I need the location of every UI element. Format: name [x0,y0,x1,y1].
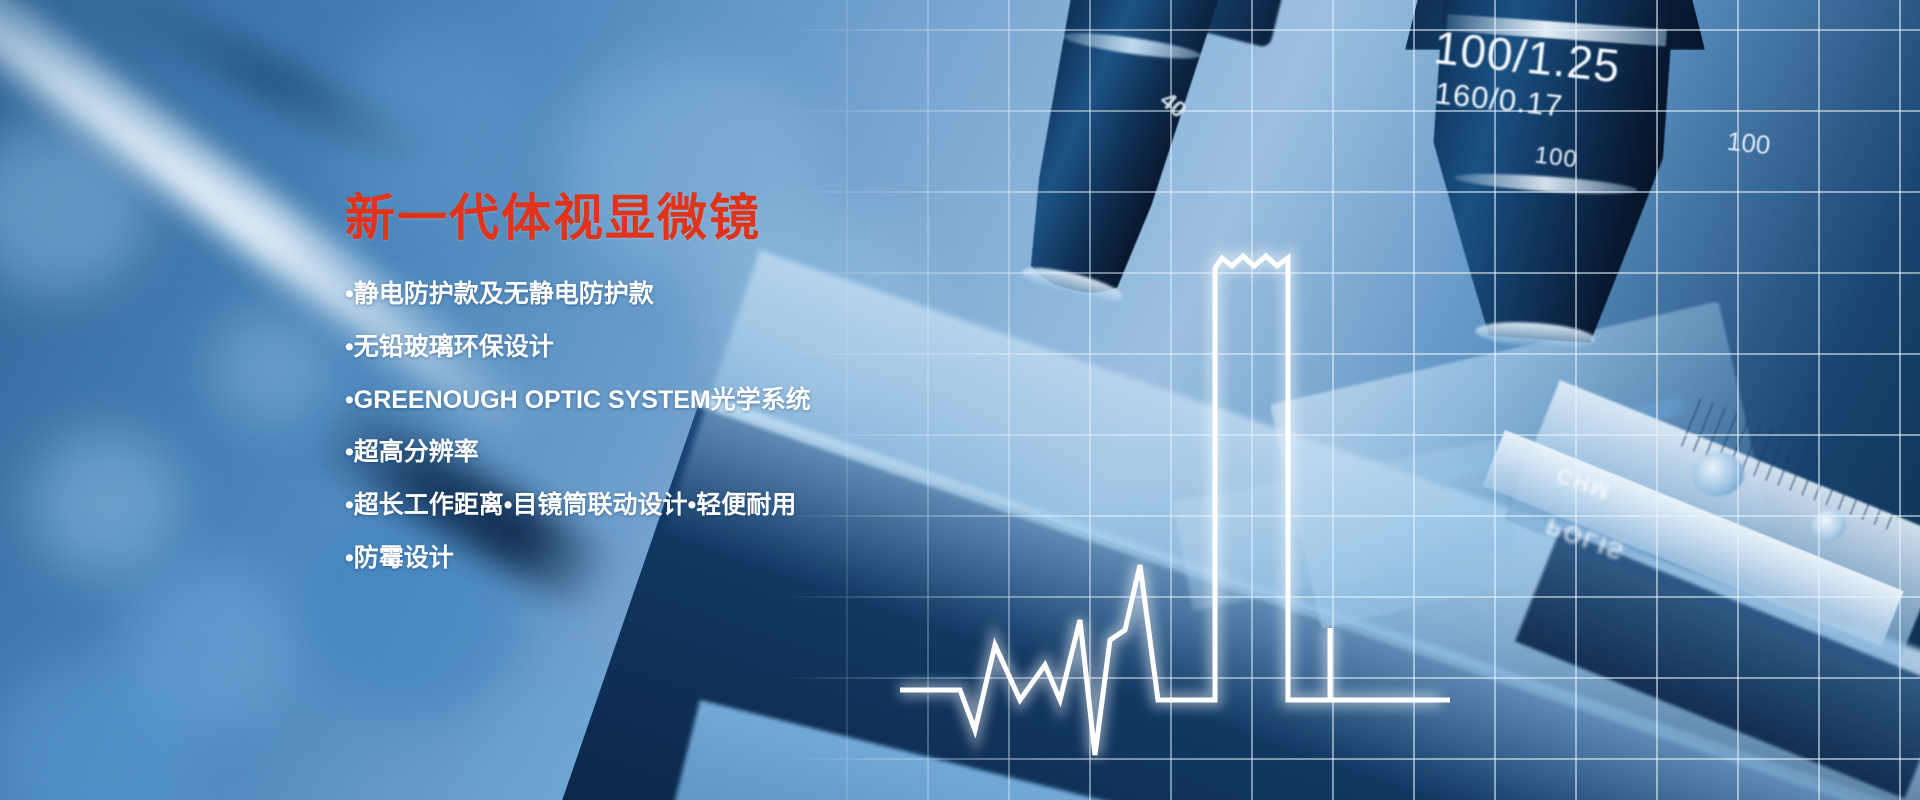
lens-magnification-label: 100 [1533,141,1579,174]
list-item: •GREENOUGH OPTIC SYSTEM光学系统 [345,381,985,420]
list-item: •无铅玻璃环保设计 [345,328,985,367]
objective-lens-right: 100/1.25 160/0.17 100 [1420,0,1679,347]
list-item: •防霉设计 [345,539,985,578]
list-item: •超高分辨率 [345,433,985,472]
banner-copy: 新一代体视显微镜 •静电防护款及无静电防护款 •无铅玻璃环保设计 •GREENO… [345,192,985,592]
objective-far-right-magnification-label: 100 [1725,126,1771,161]
product-banner: CHM POLIS 40 100/1.25 160/0.17 100 100 新… [0,0,1920,800]
list-item: •静电防护款及无静电防护款 [345,275,985,314]
slide-clip-knob [1812,510,1846,540]
list-item: •超长工作距离•目镜筒联动设计•轻便耐用 [345,486,985,525]
page-title: 新一代体视显微镜 [345,192,985,245]
feature-list: •静电防护款及无静电防护款 •无铅玻璃环保设计 •GREENOUGH OPTIC… [345,275,985,578]
slide-clip-knob [1692,452,1744,496]
